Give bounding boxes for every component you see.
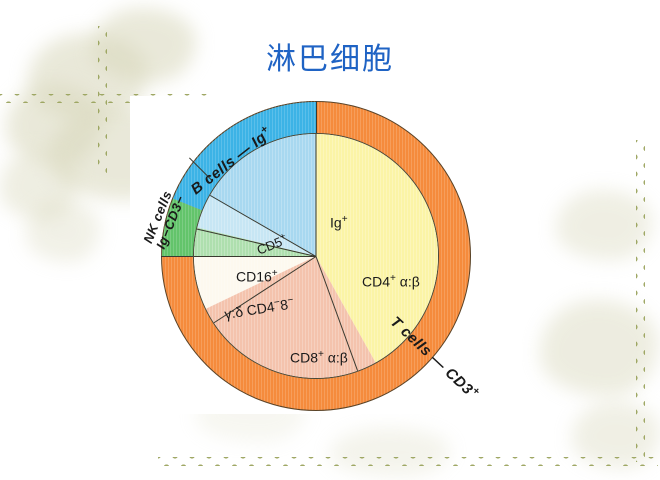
pie-separator-top — [316, 134, 317, 257]
watermark-blob-left-1 — [0, 150, 78, 220]
ring-separator-left — [161, 256, 193, 257]
lymphocyte-pie-figure: B cells — Ig+ NK cells Ig−CD3− T cells —… — [130, 96, 522, 414]
rope-line-right — [636, 140, 645, 462]
watermark-blob-bottomleft — [26, 200, 100, 262]
ring-separator-top — [316, 101, 317, 133]
label-ig: Ig+ — [330, 214, 348, 231]
label-cd4: CD4+ α:β — [362, 273, 420, 290]
label-cd16: CD16+ — [236, 268, 278, 285]
pie-separator-cd16-gd — [193, 256, 316, 257]
page-title: 淋巴细胞 — [0, 34, 660, 78]
label-cd8: CD8+ α:β — [290, 349, 348, 366]
rope-line-bottom — [158, 457, 658, 466]
watermark-blob-bottom-1 — [330, 428, 450, 476]
